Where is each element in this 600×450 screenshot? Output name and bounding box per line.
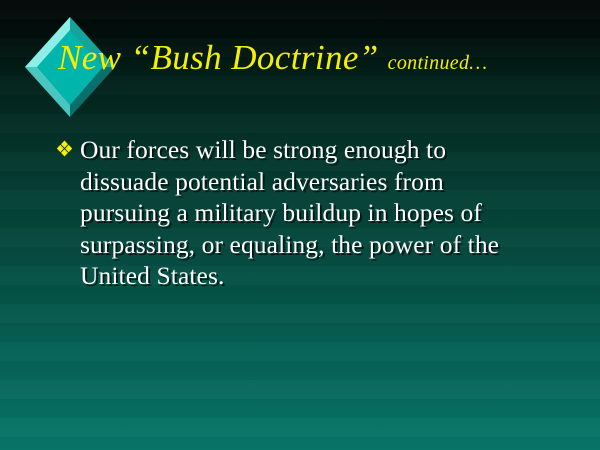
presentation-slide: New “Bush Doctrine”continued… Our forces…: [0, 0, 600, 450]
slide-title: New “Bush Doctrine”continued…: [58, 40, 487, 75]
bullet-list: Our forces will be strong enough to diss…: [56, 134, 526, 292]
title-continued-text: continued…: [388, 52, 488, 74]
diamond-cluster-bullet-icon: [56, 140, 80, 157]
bullet-item-text: Our forces will be strong enough to diss…: [80, 134, 526, 292]
title-main-text: New “Bush Doctrine”: [58, 38, 379, 77]
